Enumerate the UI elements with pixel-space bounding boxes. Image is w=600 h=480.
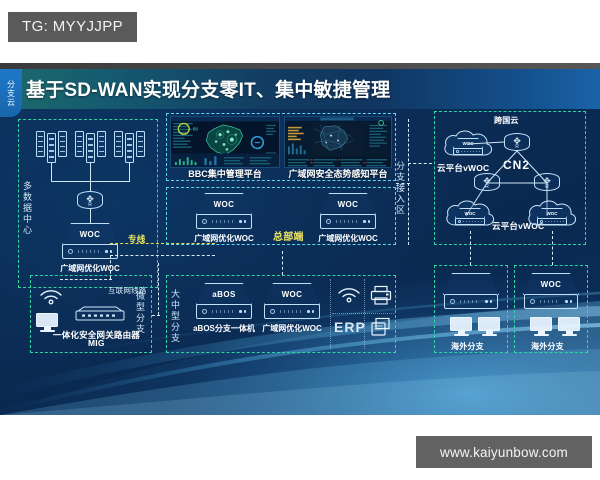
slide-title: 基于SD-WAN实现分支零IT、集中敏捷管理: [26, 75, 390, 102]
link-line: [90, 209, 91, 223]
label-erp: ERP: [334, 319, 366, 335]
scanner-icon: [370, 317, 392, 337]
internet-line-link: [110, 255, 215, 256]
dashboard-caption-bbc: BBC集中管理平台: [170, 167, 280, 180]
label-overseas-branch-2: 海外分支: [531, 341, 564, 352]
device-abos: aBOS aBOS分支一体机: [196, 283, 252, 319]
screenshot-root: TG: MYYJJPP: [0, 0, 600, 480]
scanner-glyph: [370, 317, 392, 337]
link-line-dashed: [470, 231, 471, 265]
monitor-icon: [558, 317, 580, 337]
device-woc-branch: WOC 广域网优化WOC: [264, 283, 320, 319]
printer-glyph: [370, 285, 392, 305]
link-line: [90, 181, 91, 191]
panel-divider: [364, 279, 365, 349]
label-multi-datacenter: 多数据中心: [22, 181, 31, 236]
monitor-icon: [478, 317, 500, 337]
branch-access-zone-divider: [408, 119, 409, 245]
device-name: WOC: [282, 290, 303, 299]
link-line-dashed: [158, 263, 159, 315]
panel-divider: [330, 279, 331, 349]
url-watermark-badge: www.kaiyunbow.com: [416, 436, 592, 468]
server-rack: [136, 131, 145, 157]
device-caption: 广域网优化WOC: [194, 233, 254, 244]
monitor-icon: [530, 317, 552, 337]
device-woc-hq-1: WOC 广域网优化WOC: [196, 193, 252, 229]
router-device-glyph: [70, 306, 130, 324]
device-caption: 广域网优化WOC: [318, 233, 378, 244]
device-overseas-1: [444, 273, 498, 309]
slide-image: 分支云 基于SD-WAN实现分支零IT、集中敏捷管理 多数据中心 ✥ R: [0, 63, 600, 415]
corner-tab-branch-cloud: 分支云: [0, 69, 22, 117]
server-rack: [47, 133, 56, 163]
link-line-dashed: [396, 183, 410, 184]
link-line: [90, 163, 91, 181]
label-branch-access-zone: 分支接入区: [395, 161, 404, 216]
device-caption: aBOS分支一体机: [193, 323, 255, 334]
server-rack: [58, 131, 67, 157]
server-rack: [125, 133, 134, 163]
device-mig-router: [70, 306, 130, 324]
svg-text:88: 88: [193, 127, 199, 133]
wifi-icon: [336, 285, 362, 303]
link-line-dashed: [408, 163, 432, 164]
device-overseas-2: WOC: [524, 273, 578, 309]
dashboard-wan-security: [284, 116, 392, 168]
link-line-dashed: [282, 251, 283, 275]
device-woc-hq-2: WOC 广域网优化WOC: [320, 193, 376, 229]
device-name: WOC: [80, 230, 101, 239]
device-name: WOC: [547, 211, 558, 216]
device-name: WOC: [541, 280, 562, 289]
link-line-dashed: [552, 231, 553, 265]
dashboard-caption-security: 广域网安全态势感知平台: [284, 167, 392, 180]
corner-tab-label: 分支云: [6, 80, 17, 107]
label-headquarters: 总部端: [273, 228, 304, 243]
label-mig-line2: MIG: [88, 338, 105, 348]
printer-icon: [370, 285, 392, 305]
dashboard-china-map-graphic: 88: [171, 117, 279, 168]
device-caption: 广域网优化WOC: [262, 323, 322, 334]
cloud-vwoc-2: WOC: [442, 197, 498, 231]
device-woc-datacenter: WOC 广域网优化WOC: [62, 223, 118, 259]
device-name: WOC: [465, 211, 476, 216]
label-dedicated-line: 专线: [128, 233, 145, 245]
server-rack: [86, 133, 95, 163]
monitor-icon: [450, 317, 472, 337]
device-name: WOC: [338, 200, 359, 209]
label-medium-branch: 大中型分支: [170, 289, 179, 344]
link-line-dashed: [152, 315, 160, 316]
label-overseas-branch-1: 海外分支: [451, 341, 484, 352]
wifi-icon: [38, 287, 64, 305]
server-rack: [75, 131, 84, 157]
link-line: [51, 163, 52, 181]
server-rack: [36, 131, 45, 157]
dashboard-security-graphic: [285, 117, 391, 168]
link-line: [129, 163, 130, 181]
server-rack: [114, 131, 123, 157]
device-name: WOC: [214, 200, 235, 209]
router-icon: ✥ R: [77, 191, 103, 209]
cloud-vwoc-3: WOC: [524, 197, 580, 231]
panel-divider: [332, 313, 394, 314]
wifi-glyph: [336, 285, 362, 303]
telegram-watermark-badge: TG: MYYJJPP: [8, 12, 137, 42]
router-label: R: [88, 202, 92, 208]
dashboard-bbc-platform: 88: [170, 116, 280, 168]
server-rack: [97, 131, 106, 157]
wifi-glyph: [38, 287, 64, 305]
device-name: aBOS: [212, 290, 235, 299]
